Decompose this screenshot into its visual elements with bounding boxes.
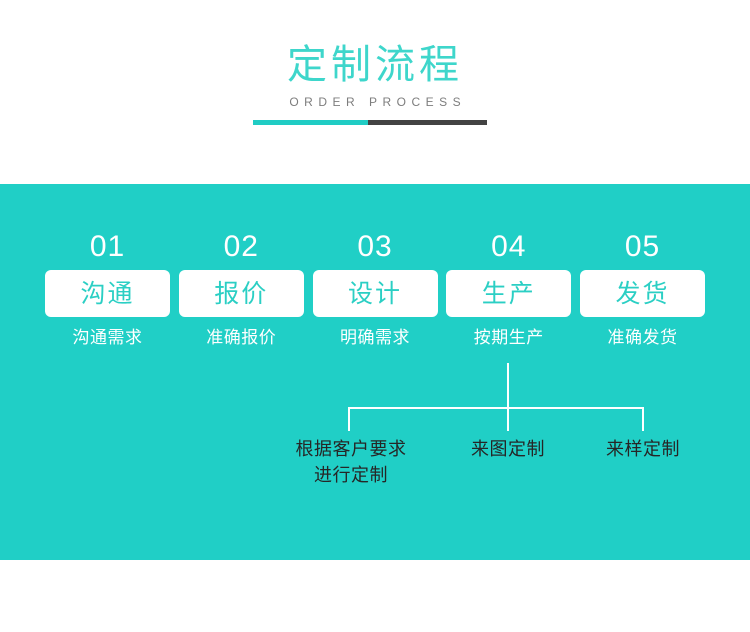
step-box-label: 沟通 bbox=[80, 280, 134, 308]
process-steps: 01 沟通 沟通需求 02 报价 准确报价 03 设计 明确需求 04 生产 bbox=[45, 230, 705, 380]
bracket-tick-left bbox=[348, 407, 350, 431]
step-box-label: 设计 bbox=[348, 280, 402, 308]
option-label-custom-by-requirement: 根据客户要求 进行定制 bbox=[261, 436, 441, 488]
bracket-tick-middle bbox=[507, 407, 509, 431]
process-step-02: 02 报价 准确报价 bbox=[179, 230, 304, 380]
step-box[interactable]: 生产 bbox=[446, 270, 571, 317]
step-caption: 准确发货 bbox=[608, 327, 678, 349]
header-divider bbox=[253, 120, 487, 125]
bracket-tick-right bbox=[642, 407, 644, 431]
header-divider-left-segment bbox=[253, 120, 368, 125]
step-caption: 按期生产 bbox=[474, 327, 544, 349]
step-caption: 沟通需求 bbox=[73, 327, 143, 349]
step-number: 04 bbox=[491, 230, 526, 264]
step-number: 02 bbox=[224, 230, 259, 264]
page-subtitle: ORDER PROCESS bbox=[0, 94, 750, 110]
step-box-label: 报价 bbox=[214, 280, 268, 308]
process-step-01: 01 沟通 沟通需求 bbox=[45, 230, 170, 380]
option-label-custom-by-drawing: 来图定制 bbox=[443, 436, 573, 462]
bracket-horizontal-line bbox=[348, 407, 644, 409]
footer-whitespace bbox=[0, 560, 750, 632]
step-box-label: 生产 bbox=[482, 280, 536, 308]
page-title: 定制流程 bbox=[0, 42, 750, 88]
step-box[interactable]: 设计 bbox=[313, 270, 438, 317]
process-step-04: 04 生产 按期生产 bbox=[446, 230, 571, 380]
step-box-label: 发货 bbox=[615, 280, 669, 308]
option-label-custom-by-sample: 来样定制 bbox=[578, 436, 708, 462]
process-step-05: 05 发货 准确发货 bbox=[580, 230, 705, 380]
step-number: 03 bbox=[357, 230, 392, 264]
process-panel: 01 沟通 沟通需求 02 报价 准确报价 03 设计 明确需求 04 生产 bbox=[0, 184, 750, 560]
step-box[interactable]: 沟通 bbox=[45, 270, 170, 317]
step-caption: 准确报价 bbox=[206, 327, 276, 349]
step-box[interactable]: 发货 bbox=[580, 270, 705, 317]
process-step-03: 03 设计 明确需求 bbox=[313, 230, 438, 380]
step-caption: 明确需求 bbox=[340, 327, 410, 349]
step-box[interactable]: 报价 bbox=[179, 270, 304, 317]
step-number: 05 bbox=[625, 230, 660, 264]
header-divider-right-segment bbox=[368, 120, 487, 125]
step-number: 01 bbox=[90, 230, 125, 264]
page-header: 定制流程 ORDER PROCESS bbox=[0, 0, 750, 184]
